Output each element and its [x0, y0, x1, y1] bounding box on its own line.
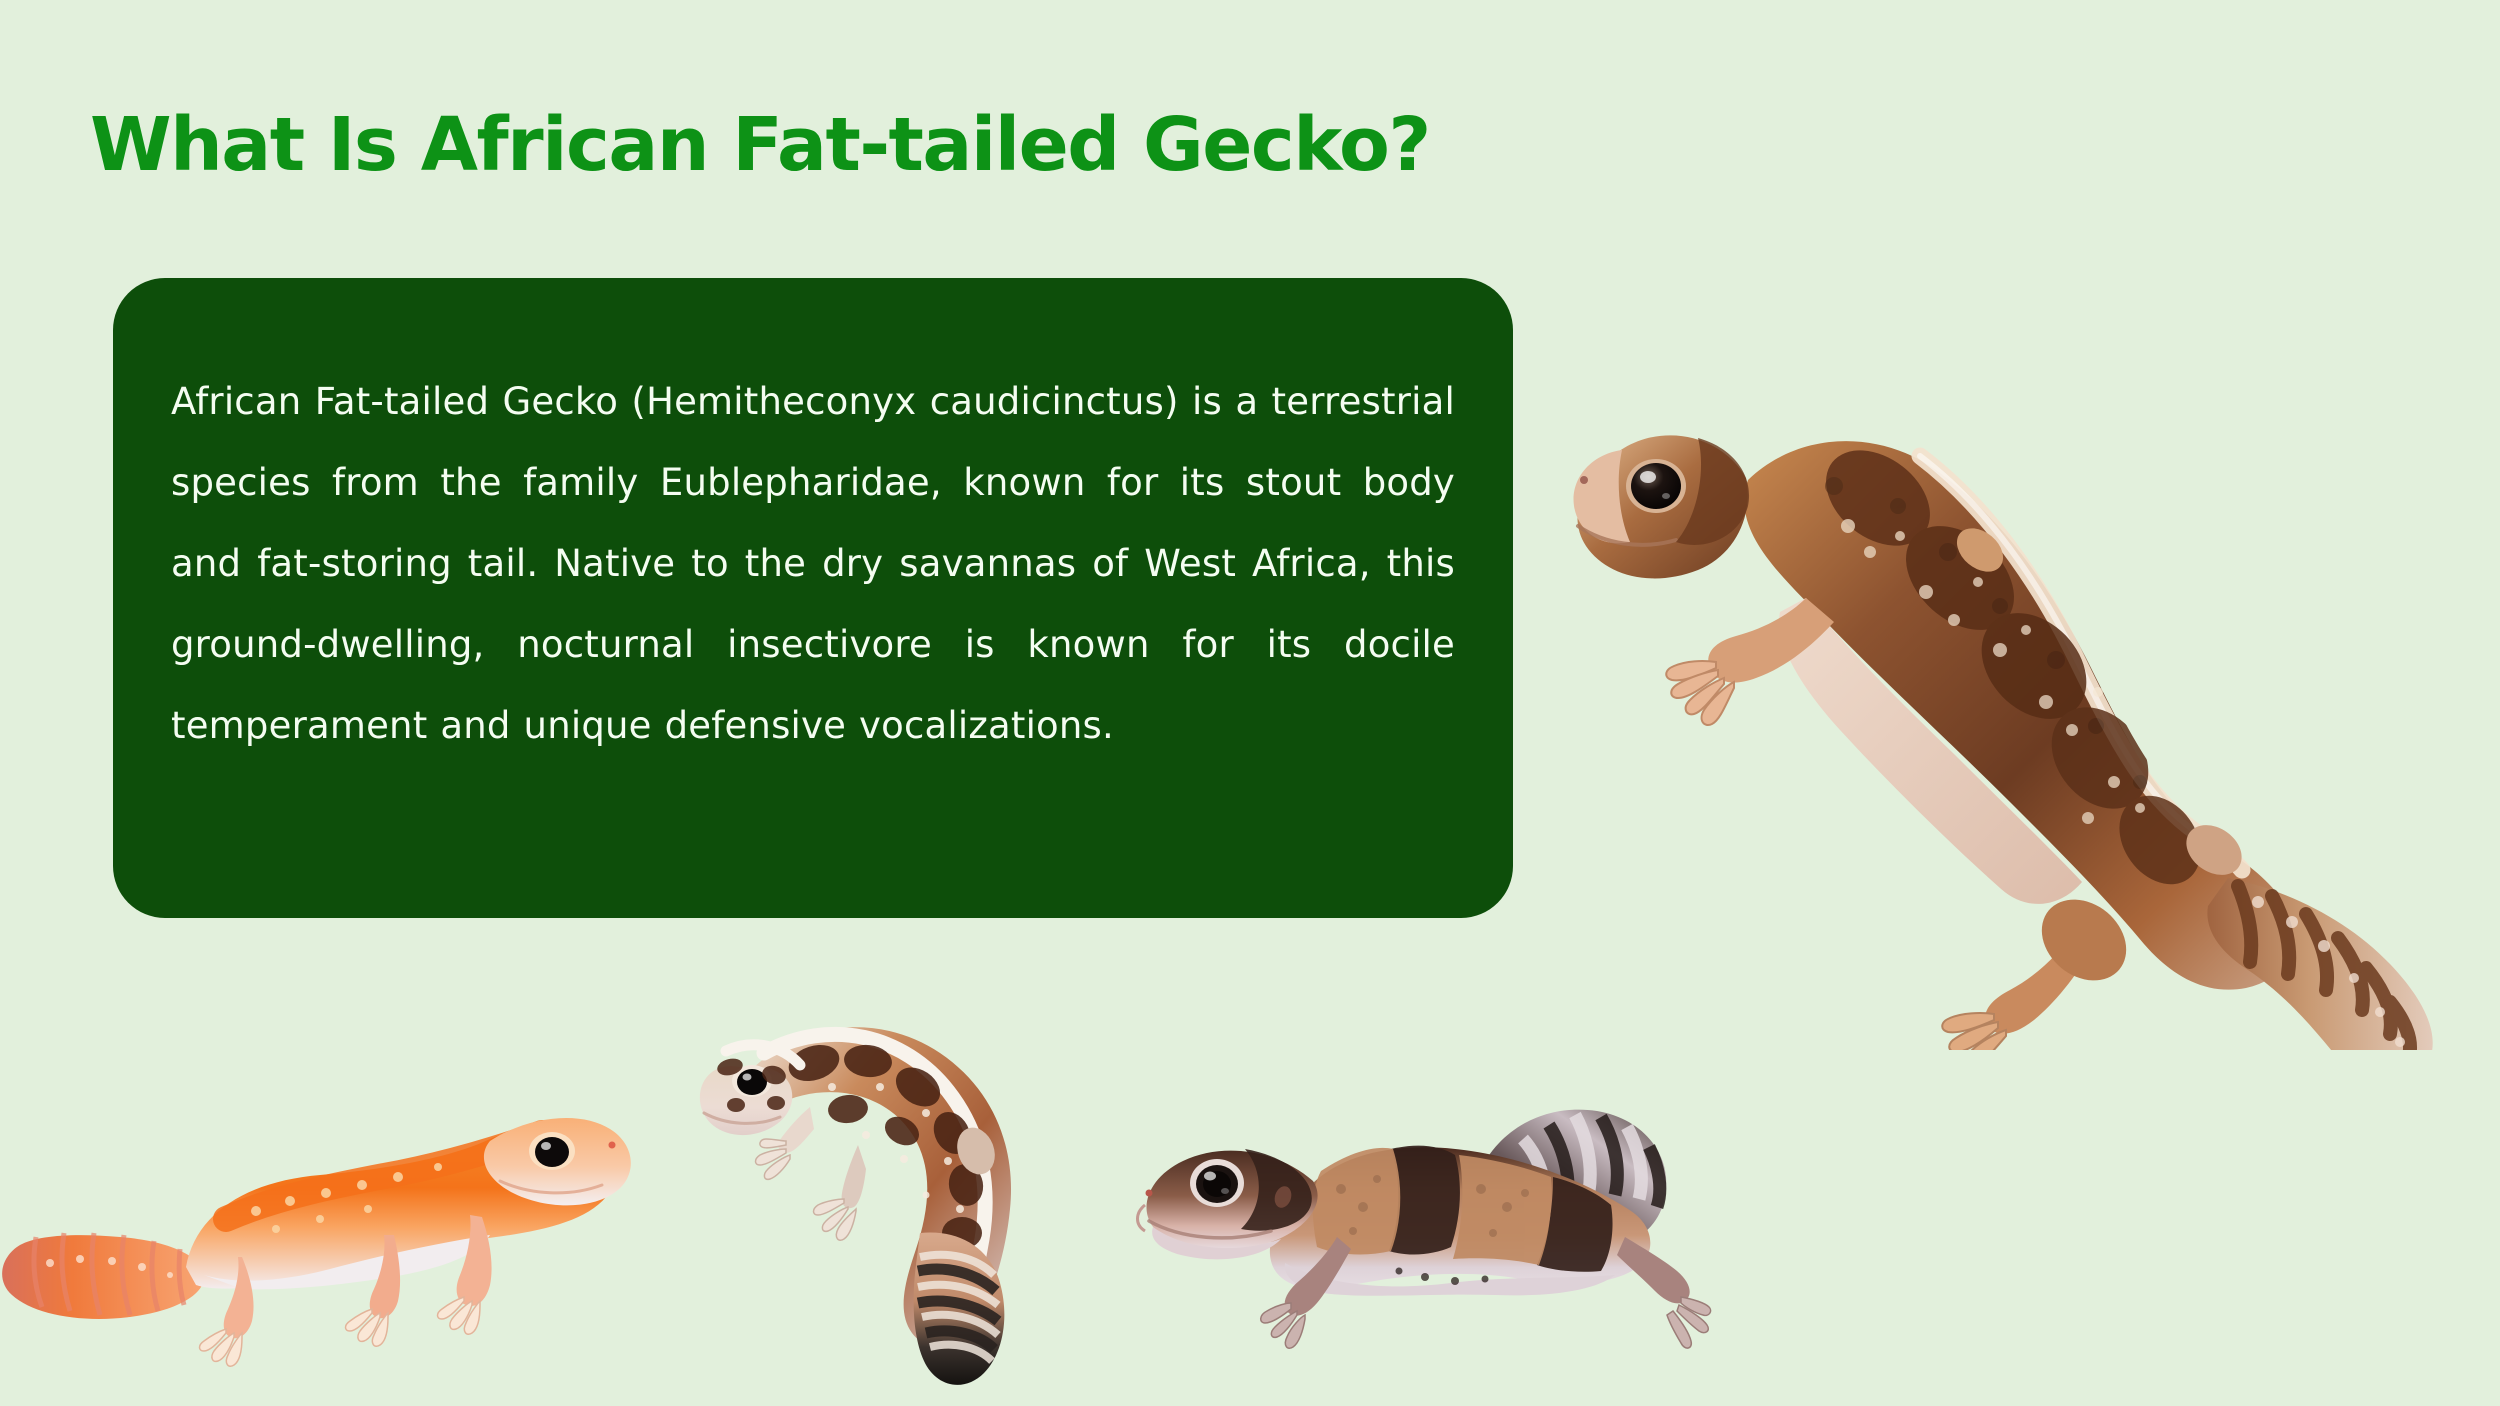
african-fat-tailed-gecko-main-image [1548, 330, 2468, 1050]
info-card: African Fat-tailed Gecko (Hemitheconyx c… [113, 278, 1513, 918]
info-card-body-text: African Fat-tailed Gecko (Hemitheconyx c… [171, 361, 1455, 766]
striped-morph-gecko-image [690, 995, 1090, 1395]
tangerine-morph-gecko-image [0, 1085, 640, 1385]
banded-wild-type-gecko-image [1125, 1065, 1745, 1385]
slide-canvas: What Is African Fat-tailed Gecko? Africa… [0, 0, 2500, 1406]
page-title: What Is African Fat-tailed Gecko? [90, 105, 1430, 186]
